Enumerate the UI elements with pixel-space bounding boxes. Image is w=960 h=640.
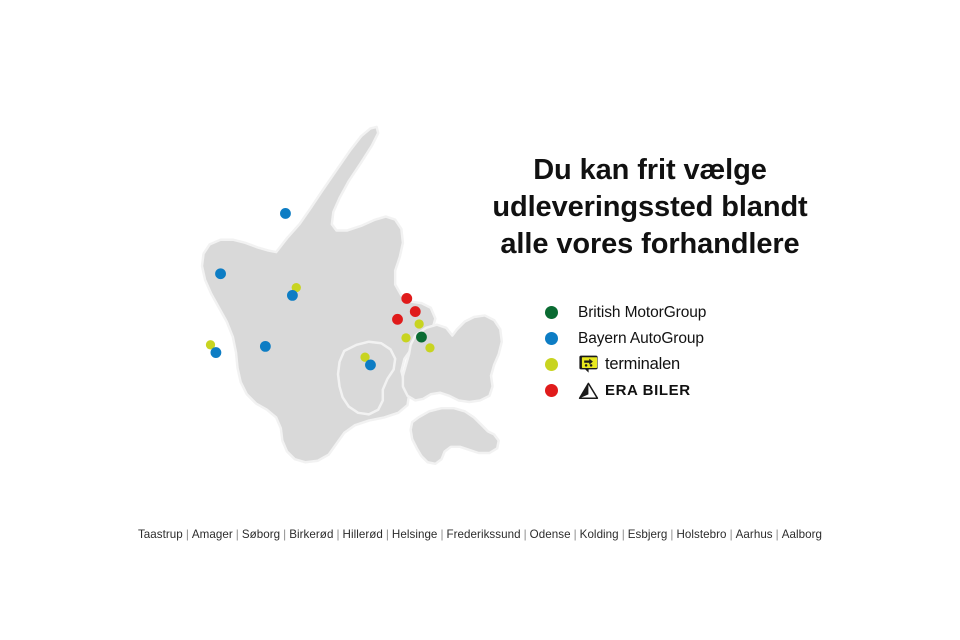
legend-dot-blue [545, 332, 558, 345]
legend-dot-yellow-green [545, 358, 558, 371]
terminalen-wordmark: terminalen [605, 355, 680, 374]
city-separator: | [521, 528, 530, 541]
era-biler-logo-icon [578, 382, 599, 400]
era-biler-wordmark: ERA BILER [605, 382, 691, 399]
map-region-lolland-falster [411, 408, 499, 464]
terminalen-logo-icon [578, 354, 599, 375]
city-separator: | [727, 528, 736, 541]
map-dot-aarhus[interactable]: Aarhus — Bayern AutoGroup [287, 290, 298, 301]
legend-item-british-motorgroup[interactable]: British MotorGroup [545, 300, 845, 325]
city-name-helsinge: Helsinge [392, 528, 438, 541]
city-separator: | [280, 528, 289, 541]
legend-label-british-motorgroup: British MotorGroup [578, 304, 706, 322]
map-dot-kolding[interactable]: Kolding — Bayern AutoGroup [260, 341, 271, 352]
city-name-amager: Amager [192, 528, 233, 541]
city-name-frederikssund: Frederikssund [447, 528, 521, 541]
map-dot-frederikssund[interactable]: Frederikssund — ERA BILER [392, 314, 403, 325]
city-name-s-borg: Søborg [242, 528, 280, 541]
map-dot-amager[interactable]: Amager — British MotorGroup [416, 332, 427, 343]
map-dot-odense[interactable]: Odense — Bayern AutoGroup [365, 360, 376, 371]
city-name-hiller-d: Hillerød [343, 528, 383, 541]
map-dot-esbjerg[interactable]: Esbjerg — Bayern AutoGroup [211, 347, 222, 358]
city-name-kolding: Kolding [580, 528, 619, 541]
city-separator: | [571, 528, 580, 541]
map-region-jutland [202, 127, 435, 462]
city-separator: | [619, 528, 628, 541]
legend-dot-green [545, 306, 558, 319]
map-dot-holstebro[interactable]: Holstebro — Bayern AutoGroup [215, 268, 226, 279]
brand-legend: British MotorGroup Bayern AutoGroup term… [545, 300, 845, 404]
city-separator: | [233, 528, 242, 541]
map-dot-hiller-d[interactable]: Hillerød — ERA BILER [410, 306, 421, 317]
map-dot-birker-d[interactable]: Birkerød — terminalen [415, 319, 424, 328]
city-name-aarhus: Aarhus [736, 528, 773, 541]
map-dot-s-borg[interactable]: Søborg — terminalen [401, 333, 410, 342]
city-name-esbjerg: Esbjerg [628, 528, 668, 541]
city-list: Taastrup|Amager|Søborg|Birkerød|Hillerød… [0, 528, 960, 541]
map-dot-aalborg[interactable]: Aalborg — Bayern AutoGroup [280, 208, 291, 219]
city-name-odense: Odense [530, 528, 571, 541]
city-name-birker-d: Birkerød [289, 528, 333, 541]
legend-item-era-biler[interactable]: ERA BILER [545, 378, 845, 403]
city-separator: | [383, 528, 392, 541]
terminalen-brand-lockup: terminalen [578, 354, 680, 375]
headline-line-2: udleveringssted blandt [455, 189, 845, 226]
era-biler-brand-lockup: ERA BILER [578, 382, 691, 400]
legend-label-bayern-autogroup: Bayern AutoGroup [578, 330, 704, 348]
city-separator: | [773, 528, 782, 541]
map-dot-helsinge[interactable]: Helsinge — ERA BILER [401, 293, 412, 304]
headline-line-1: Du kan frit vælge [455, 152, 845, 189]
city-name-taastrup: Taastrup [138, 528, 183, 541]
legend-item-terminalen[interactable]: terminalen [545, 352, 845, 377]
city-name-aalborg: Aalborg [782, 528, 822, 541]
headline-line-3: alle vores forhandlere [455, 226, 845, 263]
map-dot-taastrup[interactable]: Taastrup — terminalen [425, 343, 434, 352]
city-separator: | [333, 528, 342, 541]
poster-canvas: Aalborg — Bayern AutoGroupHolstebro — Ba… [0, 0, 960, 640]
legend-item-bayern-autogroup[interactable]: Bayern AutoGroup [545, 326, 845, 351]
page-title: Du kan frit vælge udleveringssted blandt… [455, 152, 845, 263]
city-separator: | [437, 528, 446, 541]
legend-dot-red [545, 384, 558, 397]
city-separator: | [183, 528, 192, 541]
city-name-holstebro: Holstebro [676, 528, 726, 541]
